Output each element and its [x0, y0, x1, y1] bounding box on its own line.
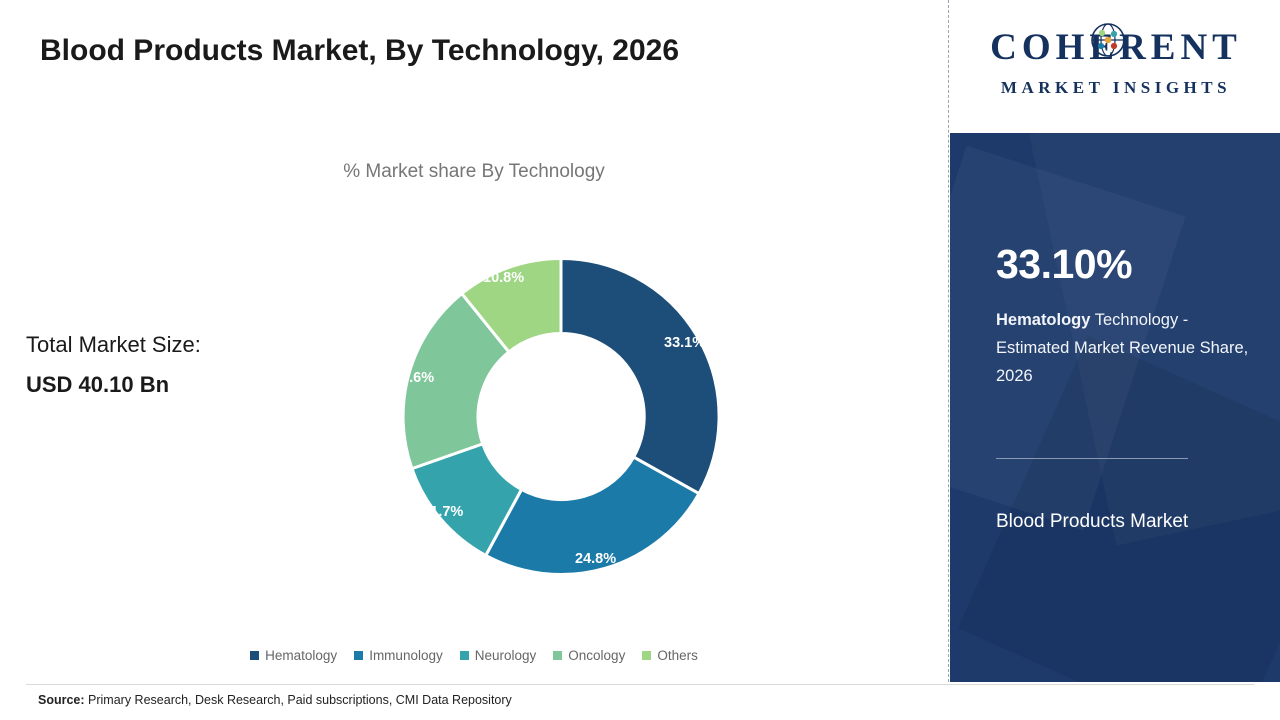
legend-item-hematology[interactable]: Hematology — [250, 648, 337, 663]
legend-swatch-icon — [642, 651, 651, 660]
slice-label-oncology: 19.6% — [393, 370, 434, 386]
slice-label-hematology: 33.1% — [664, 335, 705, 351]
slice-hematology — [561, 259, 719, 494]
legend-item-neurology[interactable]: Neurology — [460, 648, 537, 663]
chart-subtitle: % Market share By Technology — [0, 161, 948, 183]
legend-label: Immunology — [369, 648, 443, 663]
source-text: Primary Research, Desk Research, Paid su… — [88, 693, 512, 707]
legend-label: Hematology — [265, 648, 337, 663]
page-title: Blood Products Market, By Technology, 20… — [40, 34, 679, 68]
stat-description: Hematology Technology - Estimated Market… — [996, 306, 1256, 390]
chart-panel: Blood Products Market, By Technology, 20… — [0, 0, 948, 720]
total-market-size: Total Market Size: USD 40.10 Bn — [26, 325, 201, 405]
legend-swatch-icon — [553, 651, 562, 660]
donut-chart: 33.1% 24.8% 11.7% 19.6% 10.8% — [377, 229, 745, 604]
brand-panel: COHERENT MARKET INSIGHTS 33.10% Hematolo… — [950, 0, 1280, 720]
stat-description-strong: Hematology — [996, 311, 1090, 329]
stat-value: 33.10% — [996, 241, 1132, 288]
slice-label-immunology: 24.8% — [575, 551, 616, 567]
slice-label-others: 10.8% — [483, 270, 524, 286]
divider-line — [996, 458, 1188, 459]
logo-tagline: MARKET INSIGHTS — [968, 78, 1264, 98]
report-name: Blood Products Market — [996, 500, 1246, 544]
donut-svg — [377, 229, 745, 604]
source-note: Source: Primary Research, Desk Research,… — [38, 693, 512, 707]
legend-label: Oncology — [568, 648, 625, 663]
slice-label-neurology: 11.7% — [423, 504, 463, 520]
total-market-value: USD 40.10 Bn — [26, 365, 201, 405]
legend-swatch-icon — [354, 651, 363, 660]
source-label: Source: — [38, 693, 85, 707]
footer-divider — [26, 684, 1254, 685]
infographic-page: Blood Products Market, By Technology, 20… — [0, 0, 1280, 720]
legend-label: Others — [657, 648, 698, 663]
globe-icon — [1090, 22, 1126, 58]
legend-swatch-icon — [250, 651, 259, 660]
total-market-label: Total Market Size: — [26, 325, 201, 365]
chart-legend: Hematology Immunology Neurology Oncology… — [0, 648, 948, 663]
legend-item-oncology[interactable]: Oncology — [553, 648, 625, 663]
legend-swatch-icon — [460, 651, 469, 660]
legend-label: Neurology — [475, 648, 537, 663]
legend-item-others[interactable]: Others — [642, 648, 698, 663]
stat-card: 33.10% Hematology Technology - Estimated… — [950, 133, 1280, 682]
legend-item-immunology[interactable]: Immunology — [354, 648, 443, 663]
logo: COHERENT MARKET INSIGHTS — [950, 0, 1280, 133]
